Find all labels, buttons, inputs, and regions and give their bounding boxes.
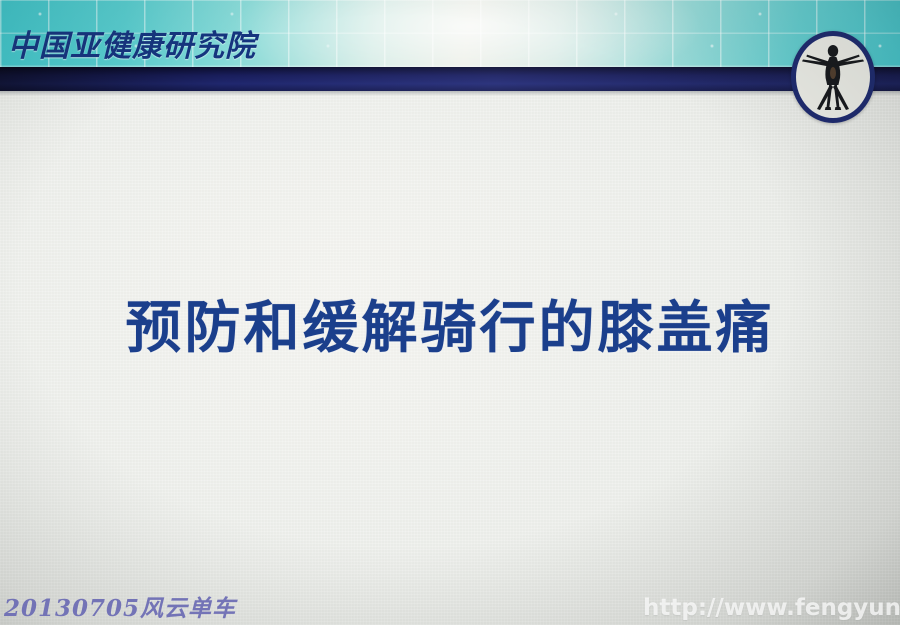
vitruvian-man-icon	[797, 39, 869, 115]
slide-title: 预防和缓解骑行的膝盖痛	[0, 283, 900, 364]
watermark-website-url: http://www.fengyunbike.com	[643, 595, 900, 621]
header-navy-stripe	[0, 67, 900, 91]
slide-header-banner: 中国亚健康研究院	[0, 0, 900, 67]
presentation-slide: 中国亚健康研究院	[0, 0, 900, 625]
watermark-date-author: 20130705风云单车	[4, 589, 236, 623]
header-stripe-shadow	[0, 91, 900, 96]
organization-name: 中国亚健康研究院	[8, 21, 256, 65]
institute-logo	[791, 31, 875, 123]
